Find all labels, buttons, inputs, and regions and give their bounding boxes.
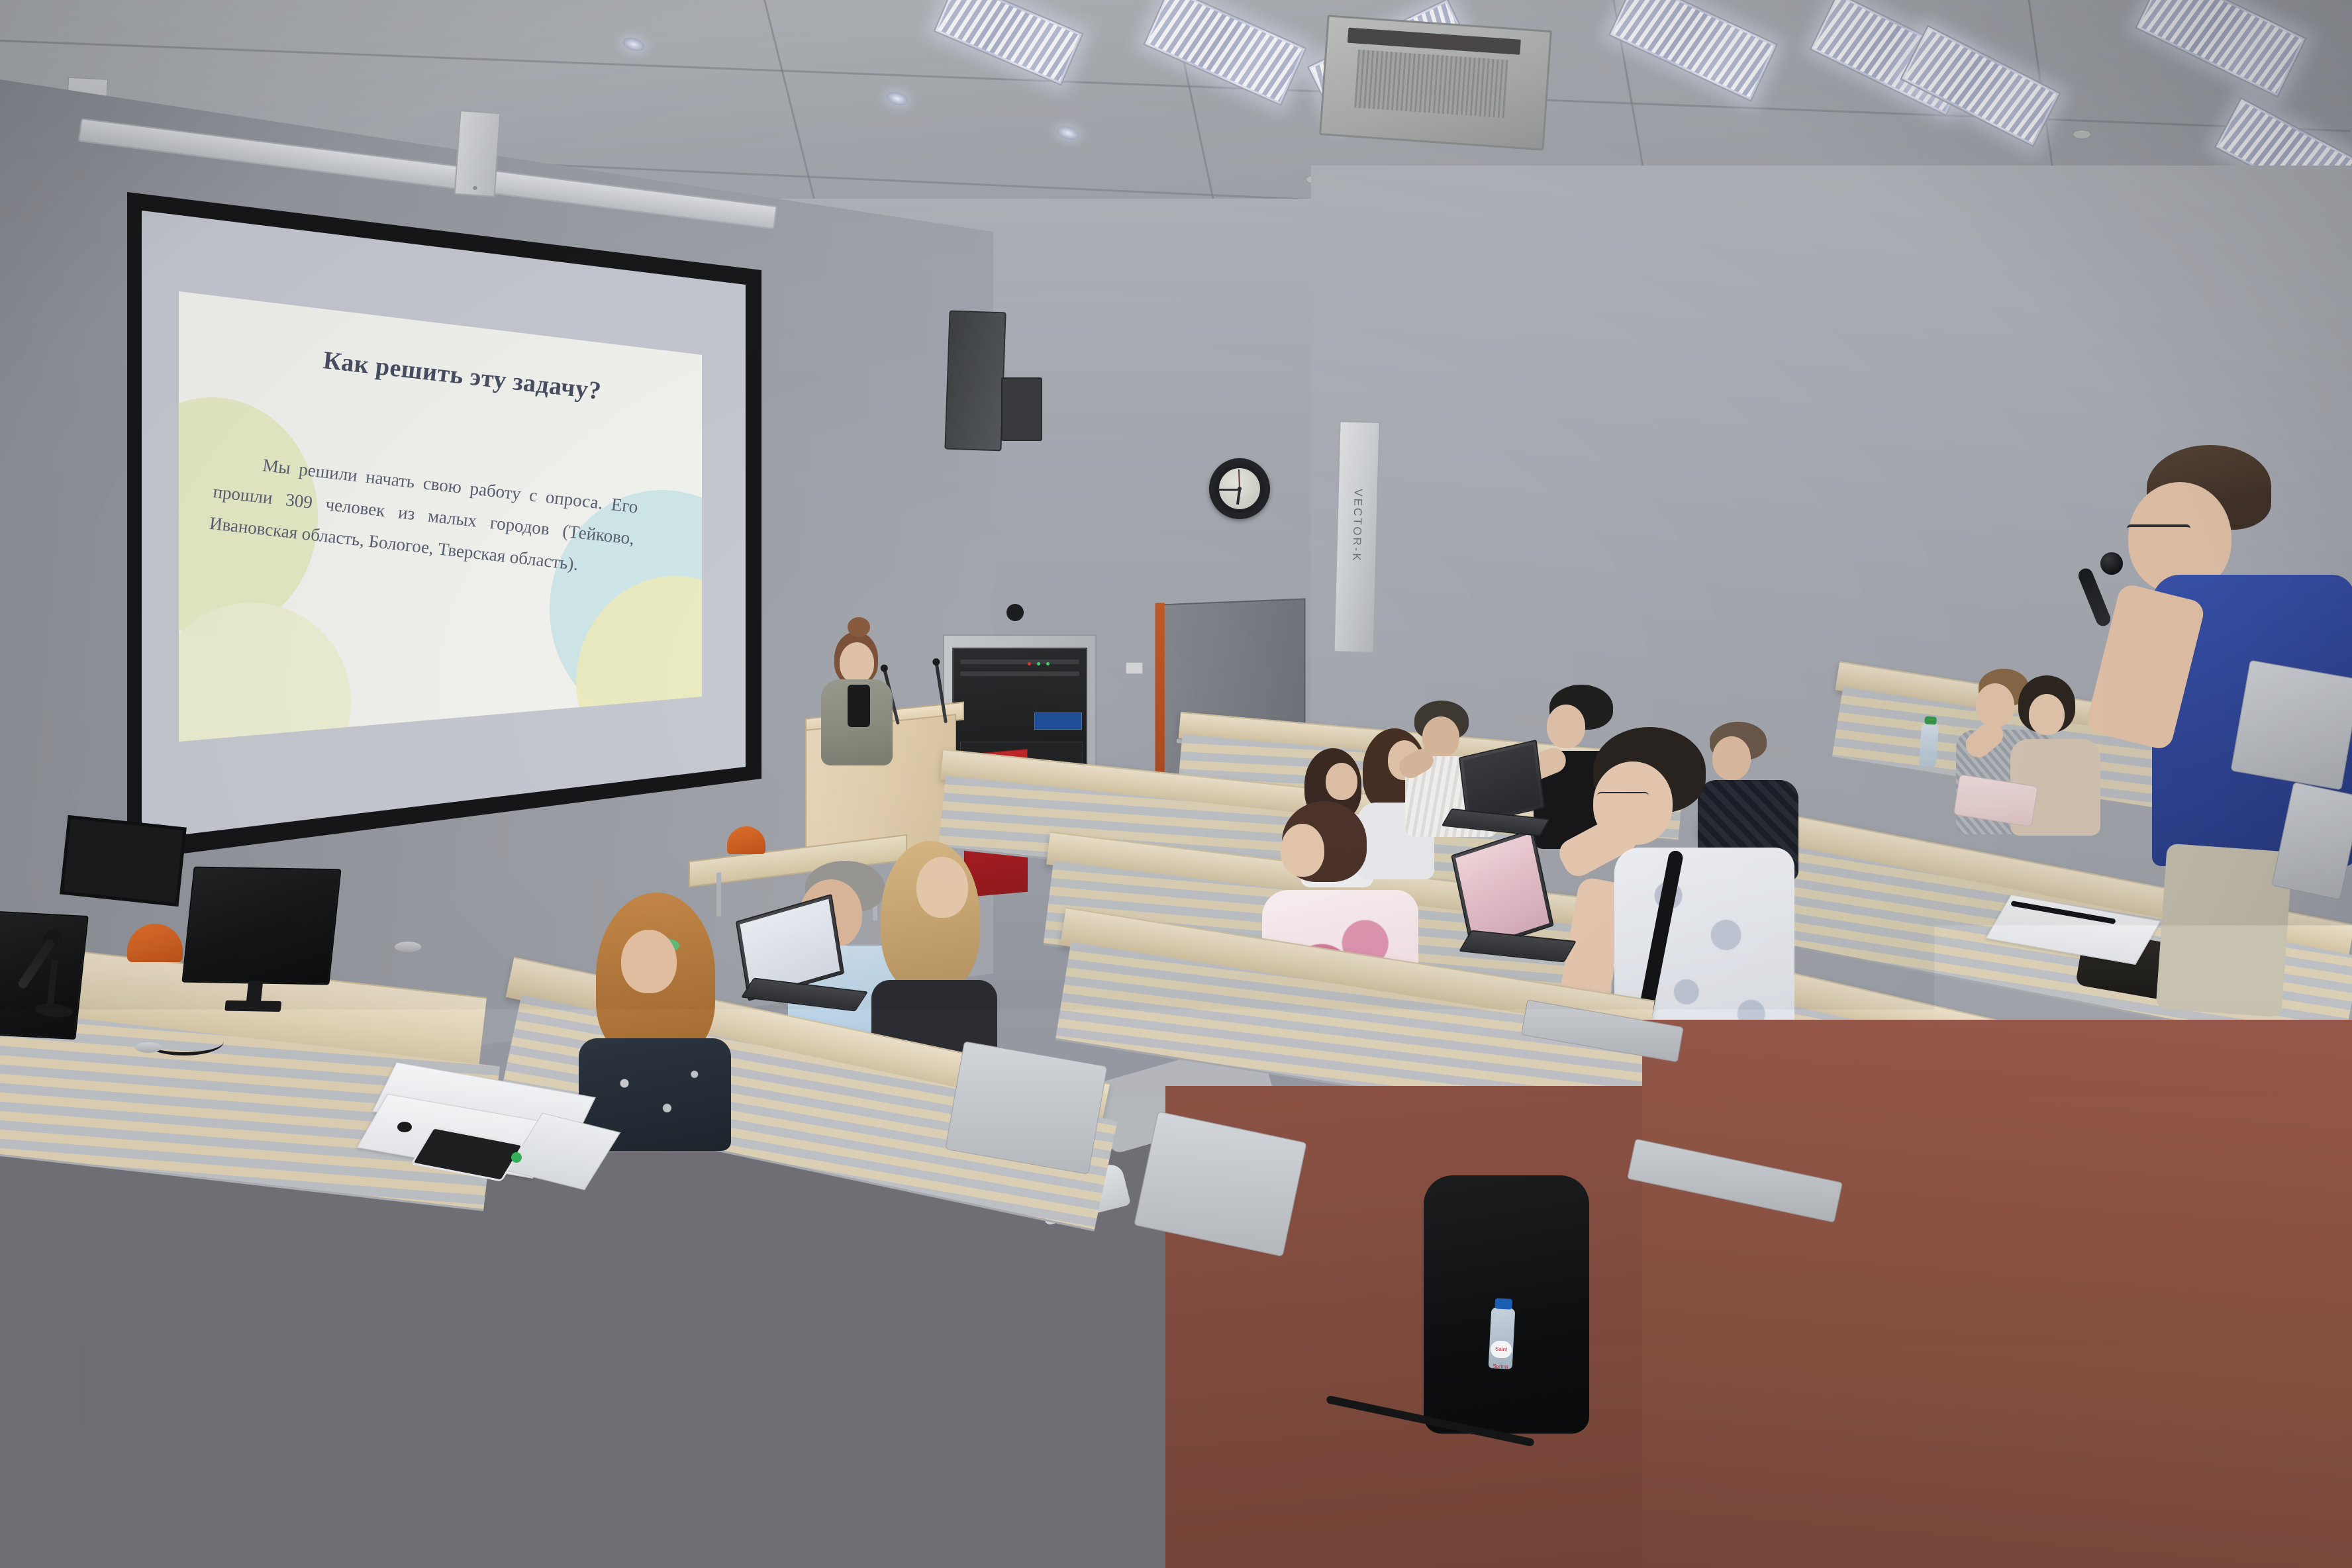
- slide-decoration-blob: [179, 603, 351, 742]
- cable-grommet: [135, 1042, 162, 1053]
- person-presenter-female: [816, 636, 915, 781]
- recessed-downlight: [621, 36, 646, 54]
- lecture-hall-scene: Как решить эту задачу? Мы решили начать …: [0, 0, 2352, 1568]
- ceiling-light-panel: [1900, 25, 2061, 148]
- lecturer-leg: [2156, 844, 2293, 1018]
- recessed-downlight: [885, 90, 910, 108]
- handheld-microphone-head[interactable]: [2100, 552, 2123, 575]
- column-speaker: VECTOR-K: [1333, 420, 1380, 654]
- speaker-brand-label: VECTOR-K: [1349, 489, 1365, 563]
- bottle-label: Saint Spring: [1490, 1340, 1512, 1359]
- ceiling-light-panel: [934, 0, 1084, 86]
- chair-back[interactable]: [2231, 660, 2352, 791]
- ceiling-light-panel: [2135, 0, 2307, 98]
- ceiling-light-panel: [1143, 0, 1306, 106]
- desktop-monitor[interactable]: [0, 910, 89, 1040]
- desktop-monitor[interactable]: [181, 867, 341, 985]
- wall-speaker-secondary: [1001, 377, 1042, 441]
- person-student-long-blonde: [861, 841, 1020, 1066]
- wall-clock: [1209, 458, 1270, 519]
- glasses-icon: [2127, 524, 2190, 532]
- projected-slide: Как решить эту задачу? Мы решили начать …: [179, 291, 702, 742]
- water-bottle-rear: [1919, 722, 1939, 767]
- recessed-downlight: [1055, 124, 1081, 142]
- air-conditioner-unit: [1319, 15, 1552, 150]
- smoke-detector: [2073, 130, 2091, 139]
- slide-title: Как решить эту задачу?: [264, 339, 661, 413]
- light-switch[interactable]: [1126, 662, 1143, 674]
- water-bottle: Saint Spring: [1489, 1307, 1516, 1369]
- bottle-cap: [1494, 1298, 1512, 1309]
- wall-speaker: [454, 110, 501, 197]
- wall-frame: [60, 815, 187, 906]
- ceiling-light-panel: [1608, 0, 1778, 102]
- rack-top-microphone: [1006, 604, 1024, 621]
- cable-grommet: [395, 942, 421, 952]
- wall-speaker: [944, 311, 1006, 452]
- handheld-microphone-body[interactable]: [2077, 566, 2113, 628]
- floor-right: [1642, 1020, 2352, 1568]
